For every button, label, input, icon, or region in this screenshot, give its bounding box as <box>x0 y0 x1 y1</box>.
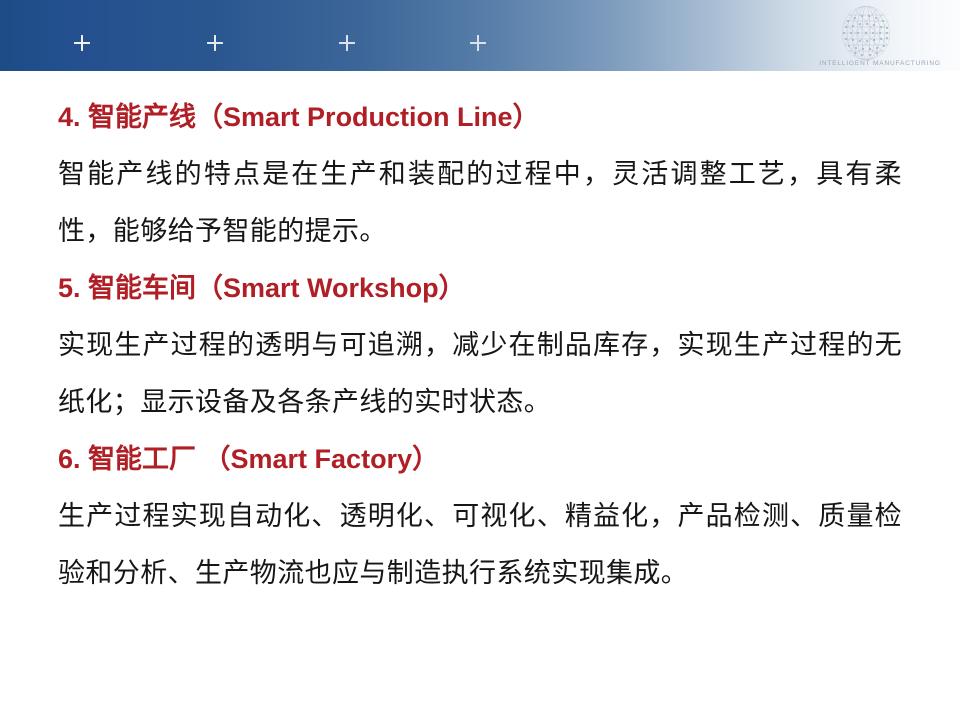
slide-content: 4. 智能产线（Smart Production Line） 智能产线的特点是在… <box>0 71 960 720</box>
plus-icon <box>339 35 355 51</box>
plus-icon <box>74 35 90 51</box>
section-smart-workshop: 5. 智能车间（Smart Workshop） 实现生产过程的透明与可追溯，减少… <box>0 260 960 431</box>
plus-icon <box>207 35 223 51</box>
section-smart-factory: 6. 智能工厂 （Smart Factory） 生产过程实现自动化、透明化、可视… <box>0 431 960 602</box>
section-heading: 4. 智能产线（Smart Production Line） <box>0 89 960 146</box>
section-paragraph: 生产过程实现自动化、透明化、可视化、精益化，产品检测、质量检验和分析、生产物流也… <box>0 488 960 602</box>
section-paragraph: 智能产线的特点是在生产和装配的过程中，灵活调整工艺，具有柔性，能够给予智能的提示… <box>0 146 960 260</box>
brand-logo: INTELLIGENT MANUFACTURING <box>810 2 950 74</box>
section-heading: 5. 智能车间（Smart Workshop） <box>0 260 960 317</box>
section-paragraph: 实现生产过程的透明与可追溯，减少在制品库存，实现生产过程的无纸化；显示设备及各条… <box>0 317 960 431</box>
wireframe-sphere-icon <box>838 4 894 62</box>
plus-icon <box>470 35 486 51</box>
brand-caption: INTELLIGENT MANUFACTURING <box>810 60 950 67</box>
section-heading: 6. 智能工厂 （Smart Factory） <box>0 431 960 488</box>
section-smart-production-line: 4. 智能产线（Smart Production Line） 智能产线的特点是在… <box>0 89 960 260</box>
